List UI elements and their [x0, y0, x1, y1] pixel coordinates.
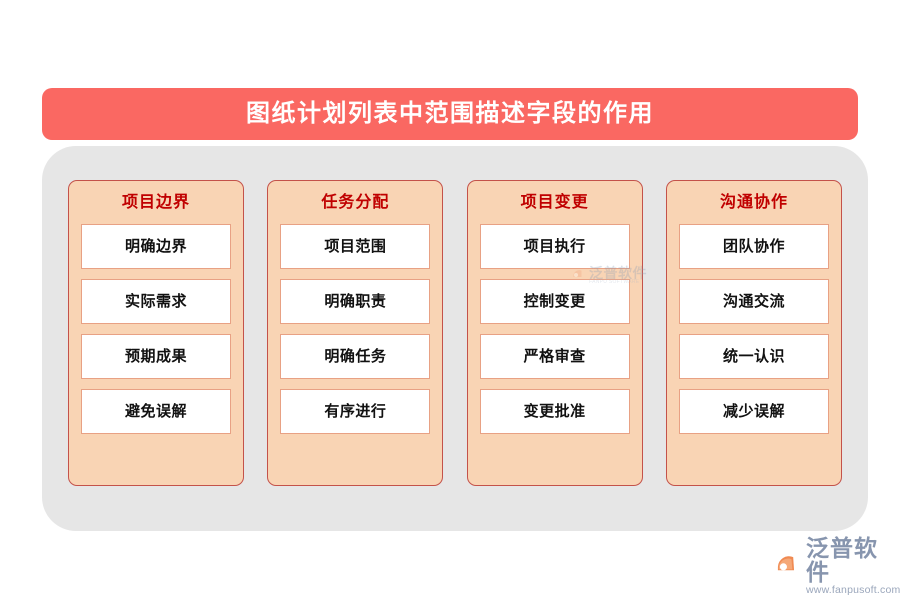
- list-item-label: 明确职责: [324, 294, 386, 309]
- list-item-label: 控制变更: [524, 294, 586, 309]
- list-item-label: 统一认识: [723, 349, 785, 364]
- category-item-list: 团队协作 沟通交流 统一认识 减少误解: [679, 224, 829, 473]
- title-banner: 图纸计划列表中范围描述字段的作用: [42, 88, 858, 140]
- list-item-label: 团队协作: [723, 239, 785, 254]
- category-card-3: 项目变更 项目执行 控制变更 严格审查 变更批准: [467, 180, 643, 486]
- list-item: 项目执行: [480, 224, 630, 269]
- list-item-label: 沟通交流: [723, 294, 785, 309]
- list-item-label: 明确任务: [324, 349, 386, 364]
- list-item: 实际需求: [81, 279, 231, 324]
- fanpu-logo-icon: [766, 549, 800, 583]
- list-item-label: 减少误解: [723, 404, 785, 419]
- list-item: 明确职责: [280, 279, 430, 324]
- page-title: 图纸计划列表中范围描述字段的作用: [246, 102, 654, 126]
- list-item: 明确任务: [280, 334, 430, 379]
- infographic-page: 图纸计划列表中范围描述字段的作用 项目边界 明确边界 实际需求 预期成果 避免误…: [0, 0, 900, 600]
- list-item: 有序进行: [280, 389, 430, 434]
- category-item-list: 项目执行 控制变更 严格审查 变更批准: [480, 224, 630, 473]
- category-item-list: 项目范围 明确职责 明确任务 有序进行: [280, 224, 430, 473]
- list-item: 明确边界: [81, 224, 231, 269]
- list-item-label: 实际需求: [125, 294, 187, 309]
- category-card-1: 项目边界 明确边界 实际需求 预期成果 避免误解: [68, 180, 244, 486]
- list-item-label: 明确边界: [125, 239, 187, 254]
- list-item-label: 有序进行: [324, 404, 386, 419]
- brand-name: 泛普软件: [806, 536, 900, 584]
- list-item: 沟通交流: [679, 279, 829, 324]
- list-item: 严格审查: [480, 334, 630, 379]
- category-card-4: 沟通协作 团队协作 沟通交流 统一认识 减少误解: [666, 180, 842, 486]
- list-item: 避免误解: [81, 389, 231, 434]
- list-item: 统一认识: [679, 334, 829, 379]
- category-card-2: 任务分配 项目范围 明确职责 明确任务 有序进行: [267, 180, 443, 486]
- category-item-list: 明确边界 实际需求 预期成果 避免误解: [81, 224, 231, 473]
- list-item-label: 项目范围: [324, 239, 386, 254]
- list-item: 预期成果: [81, 334, 231, 379]
- category-title: 沟通协作: [720, 195, 788, 211]
- brand-text-group: 泛普软件 www.fanpusoft.com: [806, 536, 900, 596]
- list-item: 控制变更: [480, 279, 630, 324]
- list-item: 减少误解: [679, 389, 829, 434]
- list-item-label: 严格审查: [524, 349, 586, 364]
- brand-logo: 泛普软件 www.fanpusoft.com: [766, 536, 900, 596]
- list-item-label: 预期成果: [125, 349, 187, 364]
- category-title: 项目变更: [521, 195, 589, 211]
- category-title: 任务分配: [321, 195, 389, 211]
- category-title: 项目边界: [122, 195, 190, 211]
- brand-url: www.fanpusoft.com: [806, 585, 900, 596]
- list-item-label: 避免误解: [125, 404, 187, 419]
- list-item: 项目范围: [280, 224, 430, 269]
- category-columns: 项目边界 明确边界 实际需求 预期成果 避免误解 任务分配: [68, 180, 842, 486]
- list-item: 团队协作: [679, 224, 829, 269]
- list-item-label: 变更批准: [524, 404, 586, 419]
- list-item-label: 项目执行: [524, 239, 586, 254]
- list-item: 变更批准: [480, 389, 630, 434]
